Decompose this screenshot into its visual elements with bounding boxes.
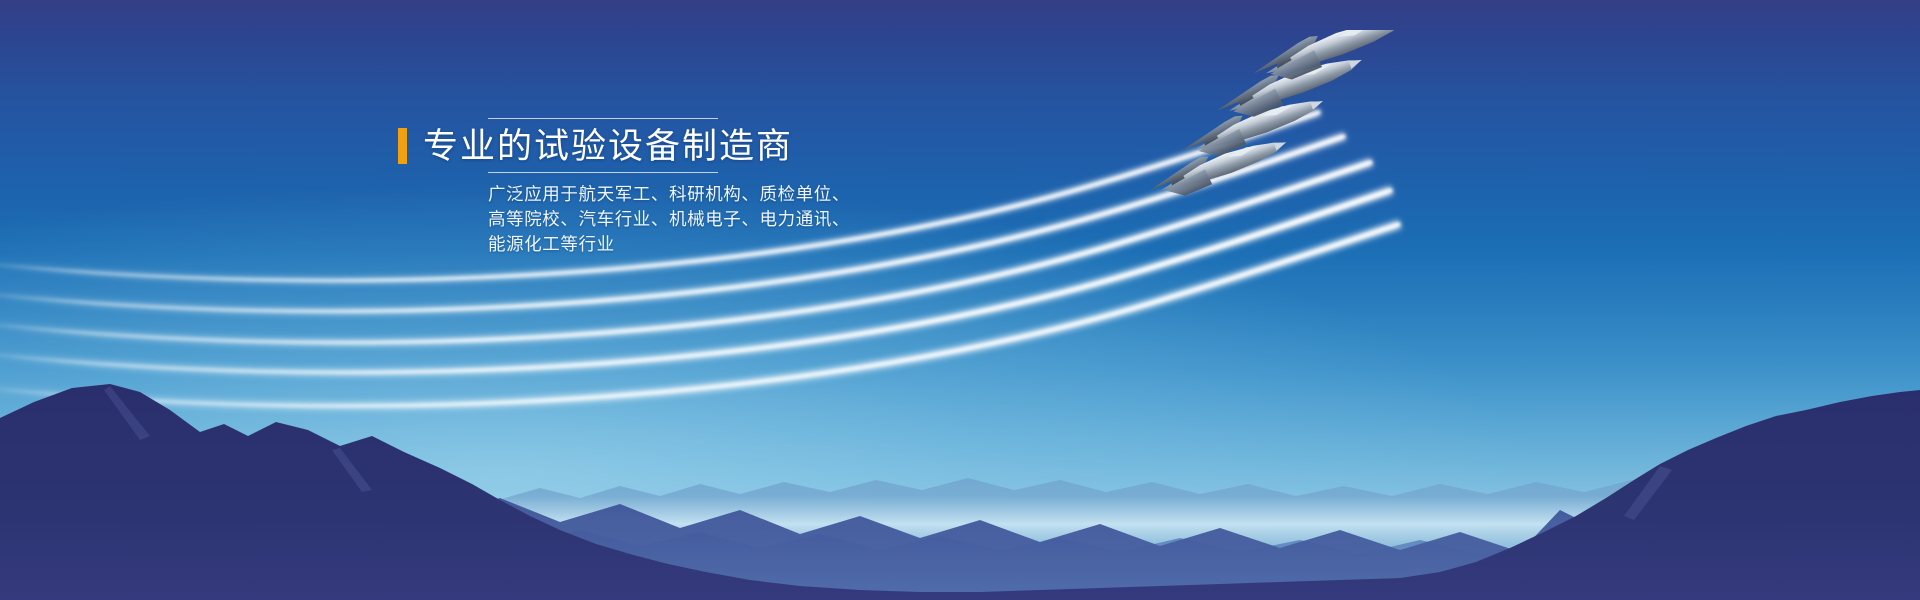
orange-accent-bar	[398, 128, 407, 164]
banner-subtitle-line-2: 高等院校、汽车行业、机械电子、电力通讯、	[488, 207, 810, 232]
banner-headline: 专业的试验设备制造商	[423, 129, 793, 164]
headline-row: 专业的试验设备制造商	[390, 128, 810, 164]
hero-banner: 专业的试验设备制造商 广泛应用于航天军工、科研机构、质检单位、 高等院校、汽车行…	[0, 0, 1920, 600]
banner-subtitle-line-1: 广泛应用于航天军工、科研机构、质检单位、	[488, 182, 810, 207]
divider-top	[488, 118, 718, 119]
divider-bottom	[488, 172, 718, 173]
banner-subtitle-line-3: 能源化工等行业	[488, 232, 810, 257]
banner-copy-block: 专业的试验设备制造商 广泛应用于航天军工、科研机构、质检单位、 高等院校、汽车行…	[390, 118, 810, 257]
sky-gradient-background	[0, 0, 1920, 600]
